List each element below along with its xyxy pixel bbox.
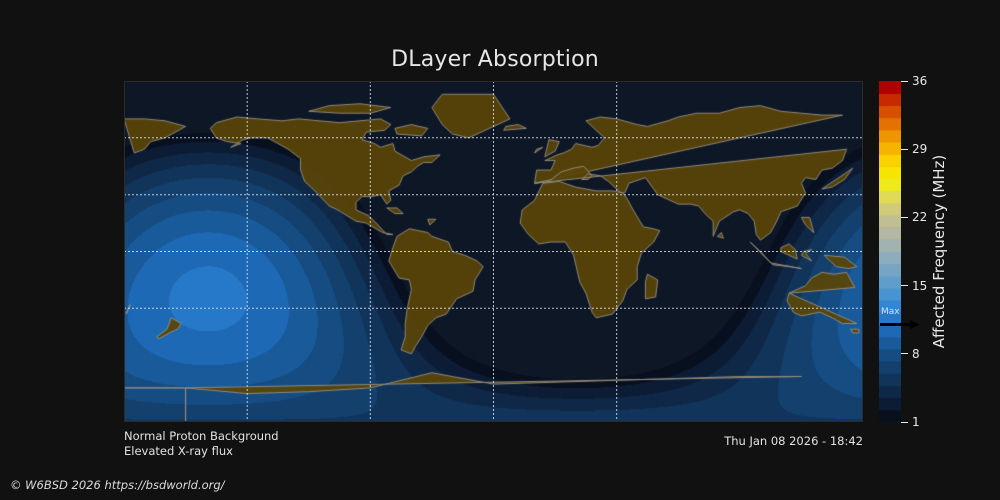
timestamp: Thu Jan 08 2026 - 18:42 — [463, 434, 863, 448]
colorbar-tick-22: 22 — [901, 211, 927, 223]
space-weather-note: Normal Proton Background Elevated X-ray … — [124, 429, 279, 459]
map-absorption-layer — [124, 81, 863, 422]
colorbar-tick-15: 15 — [901, 280, 927, 292]
tick-label: 36 — [912, 75, 927, 87]
world-map[interactable] — [124, 81, 863, 422]
copyright-notice: © W6BSD 2026 https://bsdworld.org/ — [10, 478, 225, 492]
tick-mark — [901, 353, 908, 354]
tick-mark — [901, 422, 908, 423]
colorbar-gradient — [879, 81, 901, 422]
proton-status-text: Normal Proton Background — [124, 429, 279, 444]
colorbar-axis-label: Affected Frequency (MHz) — [928, 81, 950, 422]
dlayer-absorption-map: DLayer Absorption 3629221581 Affected Fr… — [0, 0, 1000, 500]
colorbar-tick-36: 36 — [901, 75, 927, 87]
tick-label: 22 — [912, 211, 927, 223]
colorbar-tick-1: 1 — [901, 416, 920, 428]
page-title: DLayer Absorption — [0, 47, 990, 72]
xray-status-text: Elevated X-ray flux — [124, 444, 279, 459]
colorbar[interactable] — [879, 81, 901, 422]
colorbar-tick-8: 8 — [901, 348, 920, 360]
tick-label: 29 — [912, 143, 927, 155]
tick-mark — [901, 217, 908, 218]
tick-mark — [901, 149, 908, 150]
tick-label: 8 — [912, 348, 920, 360]
tick-mark — [901, 81, 908, 82]
colorbar-tick-29: 29 — [901, 143, 927, 155]
tick-label: 1 — [912, 416, 920, 428]
tick-label: 15 — [912, 280, 927, 292]
tick-mark — [901, 285, 908, 286]
